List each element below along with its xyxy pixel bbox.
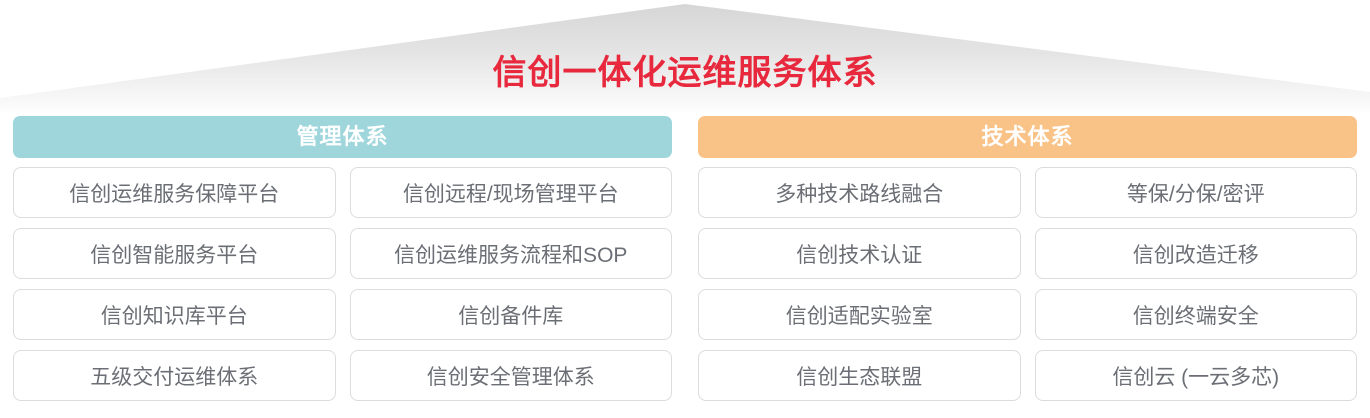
cell-technology-r2c2[interactable]: 信创改造迁移: [1035, 228, 1358, 279]
cell-technology-r3c2[interactable]: 信创终端安全: [1035, 289, 1358, 340]
cell-management-r3c2[interactable]: 信创备件库: [350, 289, 673, 340]
group-technology-grid: 多种技术路线融合 等保/分保/密评 信创技术认证 信创改造迁移 信创适配实验室 …: [698, 167, 1357, 401]
cell-management-r3c1[interactable]: 信创知识库平台: [13, 289, 336, 340]
systems-container: 管理体系 信创运维服务保障平台 信创远程/现场管理平台 信创智能服务平台 信创运…: [0, 116, 1370, 401]
cell-technology-r4c2[interactable]: 信创云 (一云多芯): [1035, 350, 1358, 401]
cell-management-r2c1[interactable]: 信创智能服务平台: [13, 228, 336, 279]
cell-management-r1c1[interactable]: 信创运维服务保障平台: [13, 167, 336, 218]
cell-management-r4c2[interactable]: 信创安全管理体系: [350, 350, 673, 401]
cell-technology-r4c1[interactable]: 信创生态联盟: [698, 350, 1021, 401]
cell-management-r1c2[interactable]: 信创远程/现场管理平台: [350, 167, 673, 218]
page-title: 信创一体化运维服务体系: [0, 51, 1370, 95]
group-technology: 技术体系 多种技术路线融合 等保/分保/密评 信创技术认证 信创改造迁移 信创适…: [698, 116, 1357, 401]
cell-technology-r1c2[interactable]: 等保/分保/密评: [1035, 167, 1358, 218]
cell-management-r2c2[interactable]: 信创运维服务流程和SOP: [350, 228, 673, 279]
group-header-technology: 技术体系: [698, 116, 1357, 158]
group-management: 管理体系 信创运维服务保障平台 信创远程/现场管理平台 信创智能服务平台 信创运…: [13, 116, 672, 401]
group-header-management: 管理体系: [13, 116, 672, 158]
cell-management-r4c1[interactable]: 五级交付运维体系: [13, 350, 336, 401]
cell-technology-r2c1[interactable]: 信创技术认证: [698, 228, 1021, 279]
cell-technology-r3c1[interactable]: 信创适配实验室: [698, 289, 1021, 340]
group-management-grid: 信创运维服务保障平台 信创远程/现场管理平台 信创智能服务平台 信创运维服务流程…: [13, 167, 672, 401]
cell-technology-r1c1[interactable]: 多种技术路线融合: [698, 167, 1021, 218]
